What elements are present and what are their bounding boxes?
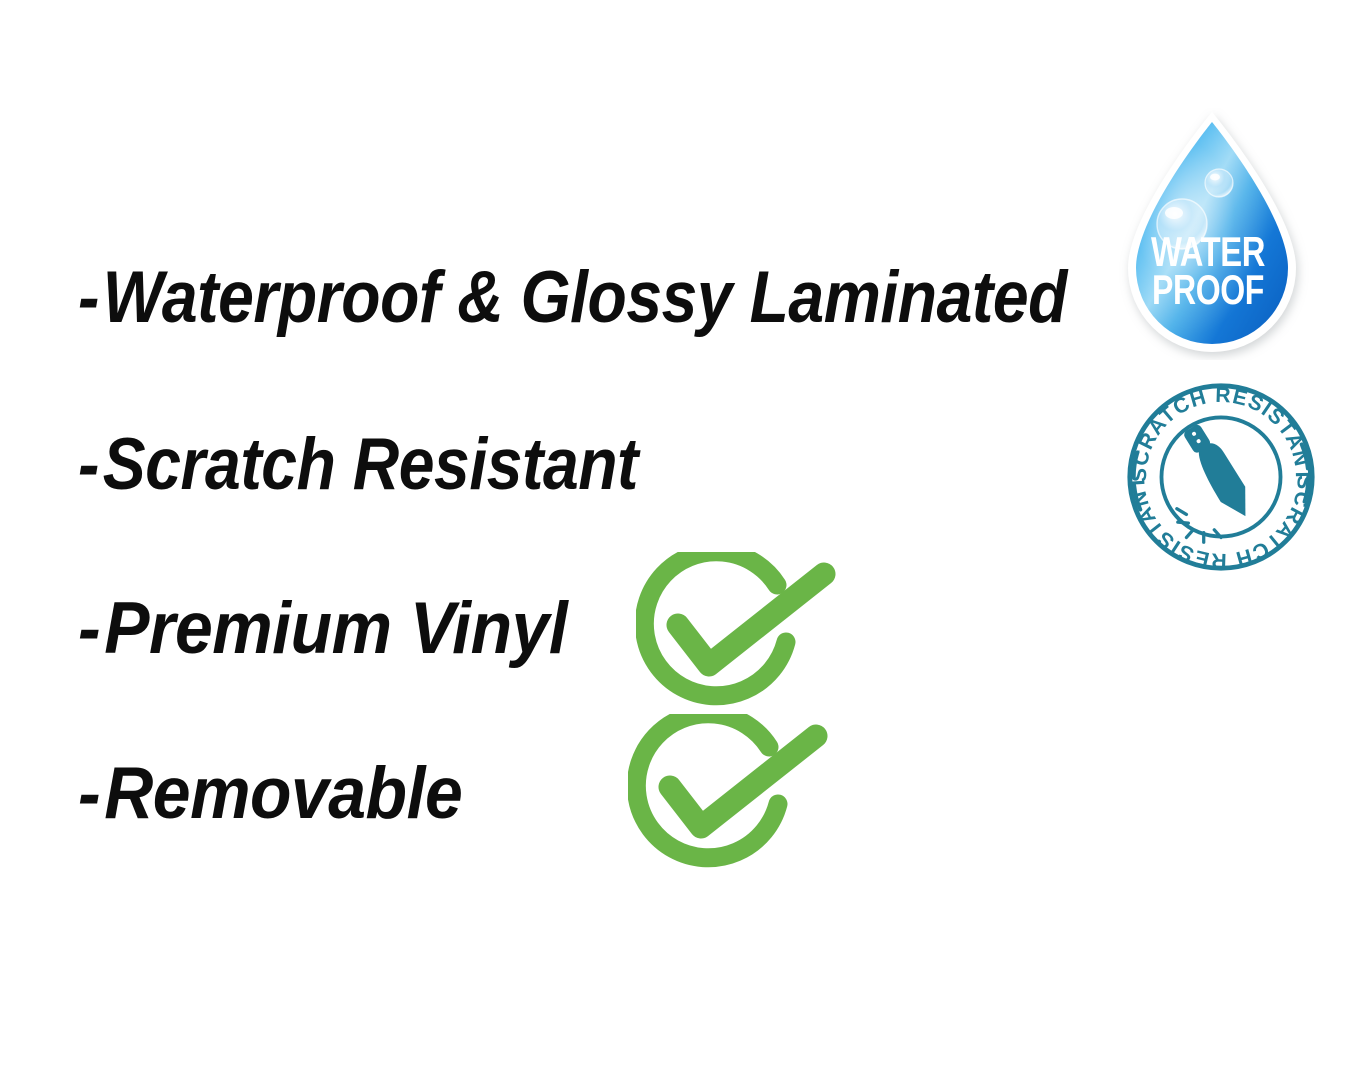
feature-item-waterproof: -Waterproof & Glossy Laminated bbox=[78, 261, 1067, 334]
knife-icon bbox=[1179, 420, 1258, 523]
waterproof-line-2: PROOF bbox=[1152, 266, 1264, 313]
feature-label: Scratch Resistant bbox=[103, 424, 638, 505]
feature-bullet-dash: - bbox=[78, 592, 100, 665]
feature-item-premium-vinyl: -Premium Vinyl bbox=[78, 592, 567, 665]
feature-label: Waterproof & Glossy Laminated bbox=[103, 257, 1067, 338]
feature-bullet-dash: - bbox=[78, 428, 99, 501]
green-check-circle-icon bbox=[628, 714, 828, 874]
green-check-circle-icon bbox=[636, 552, 836, 712]
feature-label: Removable bbox=[104, 753, 462, 834]
feature-item-removable: -Removable bbox=[78, 757, 462, 830]
feature-bullet-dash: - bbox=[78, 757, 100, 830]
feature-item-scratch-resistant: -Scratch Resistant bbox=[78, 428, 638, 501]
feature-bullet-dash: - bbox=[78, 261, 99, 334]
waterproof-drop-icon: WATER PROOF bbox=[1100, 108, 1316, 360]
scratch-resistant-stamp-icon: SCRATCH RESISTANT SCRATCH RESISTANT bbox=[1124, 381, 1318, 573]
page-canvas: -Waterproof & Glossy Laminated -Scratch … bbox=[0, 0, 1359, 1080]
feature-label: Premium Vinyl bbox=[104, 588, 567, 669]
